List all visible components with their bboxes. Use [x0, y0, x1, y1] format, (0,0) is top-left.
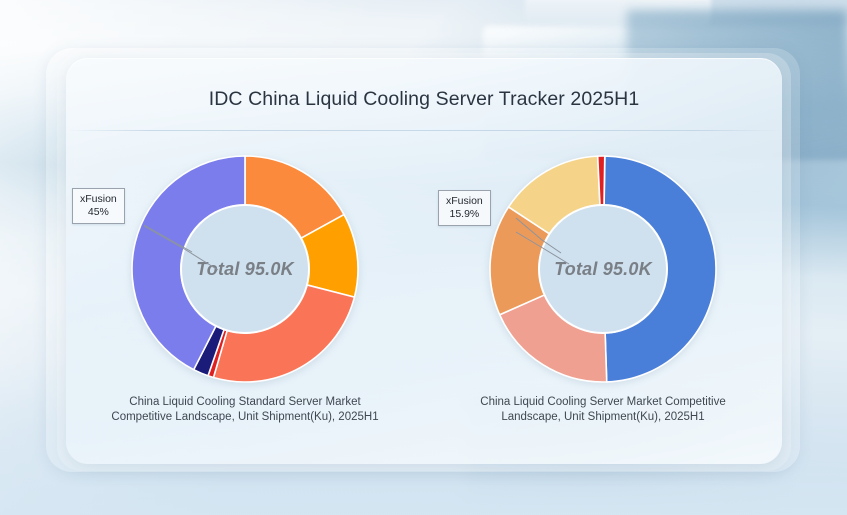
left-chart-column: Total 95.0K xFusion 45% China Liquid Coo… [66, 140, 424, 460]
left-caption-line-2: Competitive Landscape, Unit Shipment(Ku)… [80, 410, 410, 425]
right-caption-line-1: China Liquid Cooling Server Market Compe… [438, 395, 768, 410]
left-xfusion-callout[interactable]: xFusion 45% [72, 188, 125, 224]
page-title: IDC China Liquid Cooling Server Tracker … [66, 88, 782, 111]
left-callout-vendor: xFusion [80, 193, 117, 206]
chart-panel-card: IDC China Liquid Cooling Server Tracker … [66, 58, 782, 464]
charts-row: Total 95.0K xFusion 45% China Liquid Coo… [66, 140, 782, 460]
right-caption-line-2: Landscape, Unit Shipment(Ku), 2025H1 [438, 410, 768, 425]
right-callout-percent: 15.9% [446, 208, 483, 221]
right-chart-caption: China Liquid Cooling Server Market Compe… [438, 395, 768, 425]
left-callout-percent: 45% [80, 206, 117, 219]
left-donut-chart[interactable]: Total 95.0K [128, 152, 362, 386]
right-callout-vendor: xFusion [446, 195, 483, 208]
left-donut-svg [128, 152, 362, 386]
right-donut-hole [539, 205, 667, 333]
left-donut-hole [181, 205, 309, 333]
right-xfusion-callout[interactable]: xFusion 15.9% [438, 190, 491, 226]
right-chart-column: Total 95.0K xFusion 15.9% China Liquid C… [424, 140, 782, 460]
left-chart-caption: China Liquid Cooling Standard Server Mar… [80, 395, 410, 425]
title-divider [66, 130, 782, 131]
right-donut-svg [486, 152, 720, 386]
left-caption-line-1: China Liquid Cooling Standard Server Mar… [80, 395, 410, 410]
right-donut-chart[interactable]: Total 95.0K [486, 152, 720, 386]
